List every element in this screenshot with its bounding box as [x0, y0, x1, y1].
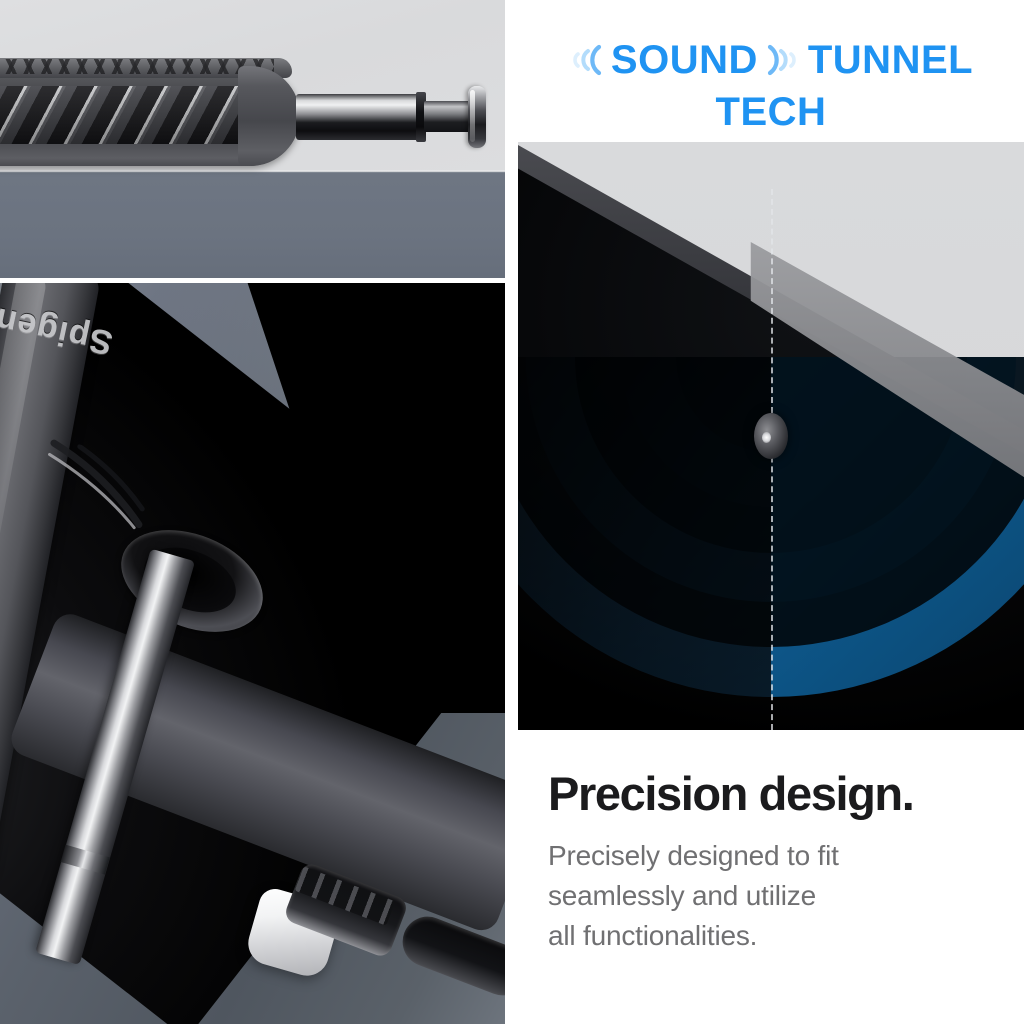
stylus-icon — [296, 94, 426, 140]
copy-body: Precisely designed to fit seamlessly and… — [548, 836, 978, 956]
vent-slot-shading — [0, 86, 247, 144]
headline-sound-tunnel-tech: SOUND TUNNEL TECH — [518, 34, 1024, 138]
headline-line-1: SOUND TUNNEL — [518, 34, 1024, 86]
stylus-knob-highlight — [470, 90, 475, 142]
speaker-port-specular — [762, 432, 771, 443]
product-feature-image: Spigen — [0, 0, 1024, 1024]
panel-case-corner-stylus: Spigen — [0, 283, 505, 1024]
speaker-port-icon — [754, 413, 788, 459]
copy-body-line-3: all functionalities. — [548, 916, 978, 956]
headline-word-sound: SOUND — [611, 40, 758, 80]
headline-word-tunnel: TUNNEL — [808, 40, 973, 80]
copy-body-line-1: Precisely designed to fit — [548, 836, 978, 876]
panel-stylus-case-edge — [0, 0, 505, 278]
dashed-centerline-icon — [771, 189, 773, 730]
copy-heading: Precision design. — [548, 766, 913, 821]
sound-wave-arcs-right-icon — [766, 40, 800, 80]
panel-sound-tunnel-diagram — [518, 142, 1024, 730]
panel-marketing-copy: Precision design. Precisely designed to … — [518, 744, 1024, 1024]
headline-line-2: TECH — [518, 92, 1024, 132]
copy-body-line-2: seamlessly and utilize — [548, 876, 978, 916]
background-horizon-seam — [0, 170, 505, 173]
sound-wave-arcs-left-icon — [569, 40, 603, 80]
diamond-chain-texture-icon — [0, 59, 274, 74]
panel-background-lower — [0, 172, 505, 278]
